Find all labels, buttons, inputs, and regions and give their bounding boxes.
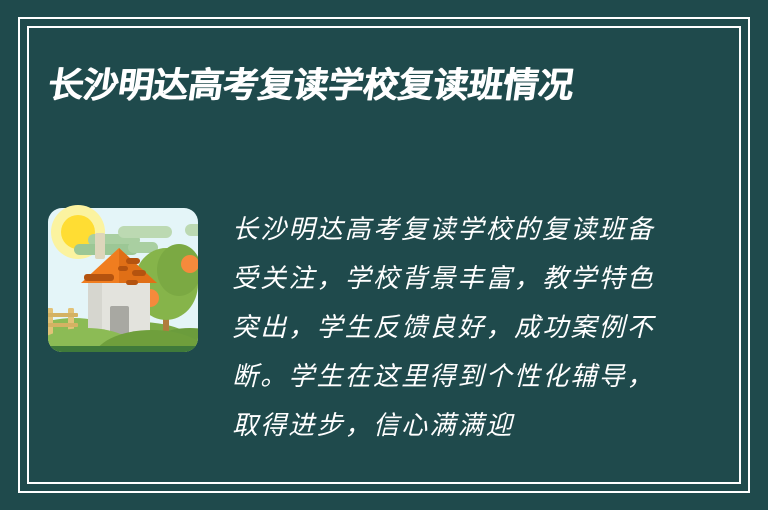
chimney	[95, 233, 105, 259]
tree-fruit-top	[181, 255, 199, 273]
poster-canvas: 长沙明达高考复读学校复读班情况	[0, 0, 768, 510]
house-wall-shade	[88, 281, 102, 333]
countryside-house-illustration	[40, 196, 206, 358]
roof-brick-3	[132, 270, 146, 276]
cloud-top	[118, 226, 172, 238]
roof-brick-1	[84, 274, 114, 281]
cloud-far-right	[185, 224, 206, 236]
roof-brick-5	[126, 280, 138, 285]
illustration-card	[40, 196, 206, 358]
page-title: 长沙明达高考复读学校复读班情况	[44, 58, 672, 114]
fence-rail-top	[42, 313, 78, 317]
roof-brick-4	[118, 266, 128, 271]
ground-line	[40, 346, 206, 352]
body-paragraph: 长沙明达高考复读学校的复读班备受关注，学校背景丰富，教学特色突出，学生反馈良好，…	[232, 206, 672, 451]
fence-rail-bottom	[42, 323, 78, 327]
house-door	[110, 306, 129, 334]
roof-brick-2	[126, 258, 140, 264]
